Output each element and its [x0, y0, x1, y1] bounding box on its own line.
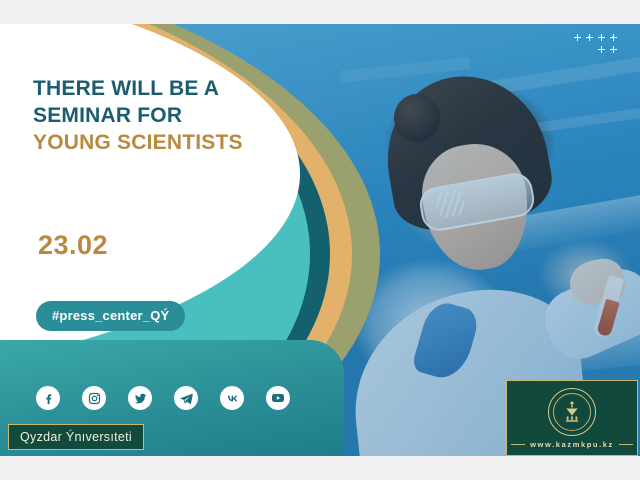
headline-highlight: YOUNG SCIENTISTS	[33, 130, 293, 157]
page-title: THERE WILL BE A SEMINAR FOR YOUNG SCIENT…	[33, 76, 293, 157]
university-logo-badge[interactable]: www.kazmkpu.kz	[506, 380, 638, 456]
social-links	[36, 386, 290, 410]
badge-url-text: www.kazmkpu.kz	[530, 440, 614, 449]
vk-icon[interactable]	[220, 386, 244, 410]
headline-line-2: SEMINAR FOR	[33, 104, 182, 127]
twitter-icon[interactable]	[128, 386, 152, 410]
sparkle-decoration	[574, 34, 624, 62]
facebook-icon[interactable]	[36, 386, 60, 410]
sparkle-icon	[610, 46, 617, 53]
sparkle-icon	[610, 34, 617, 41]
poster-image: THERE WILL BE A SEMINAR FOR YOUNG SCIENT…	[0, 24, 640, 456]
badge-website-url: www.kazmkpu.kz	[511, 440, 633, 449]
telegram-icon[interactable]	[174, 386, 198, 410]
hashtag-badge[interactable]: #press_center_QÝ	[36, 301, 185, 331]
screenshot-canvas: THERE WILL BE A SEMINAR FOR YOUNG SCIENT…	[0, 0, 640, 480]
youtube-icon[interactable]	[266, 386, 290, 410]
sparkle-icon	[598, 46, 605, 53]
sparkle-icon	[586, 34, 593, 41]
university-seal-icon	[548, 388, 596, 436]
university-name-plate: Qyzdar Ýnıversıteti	[8, 424, 144, 450]
sparkle-icon	[598, 34, 605, 41]
event-date: 23.02	[38, 230, 108, 261]
headline-line-1: THERE WILL BE A	[33, 77, 219, 100]
sparkle-icon	[574, 34, 581, 41]
instagram-icon[interactable]	[82, 386, 106, 410]
